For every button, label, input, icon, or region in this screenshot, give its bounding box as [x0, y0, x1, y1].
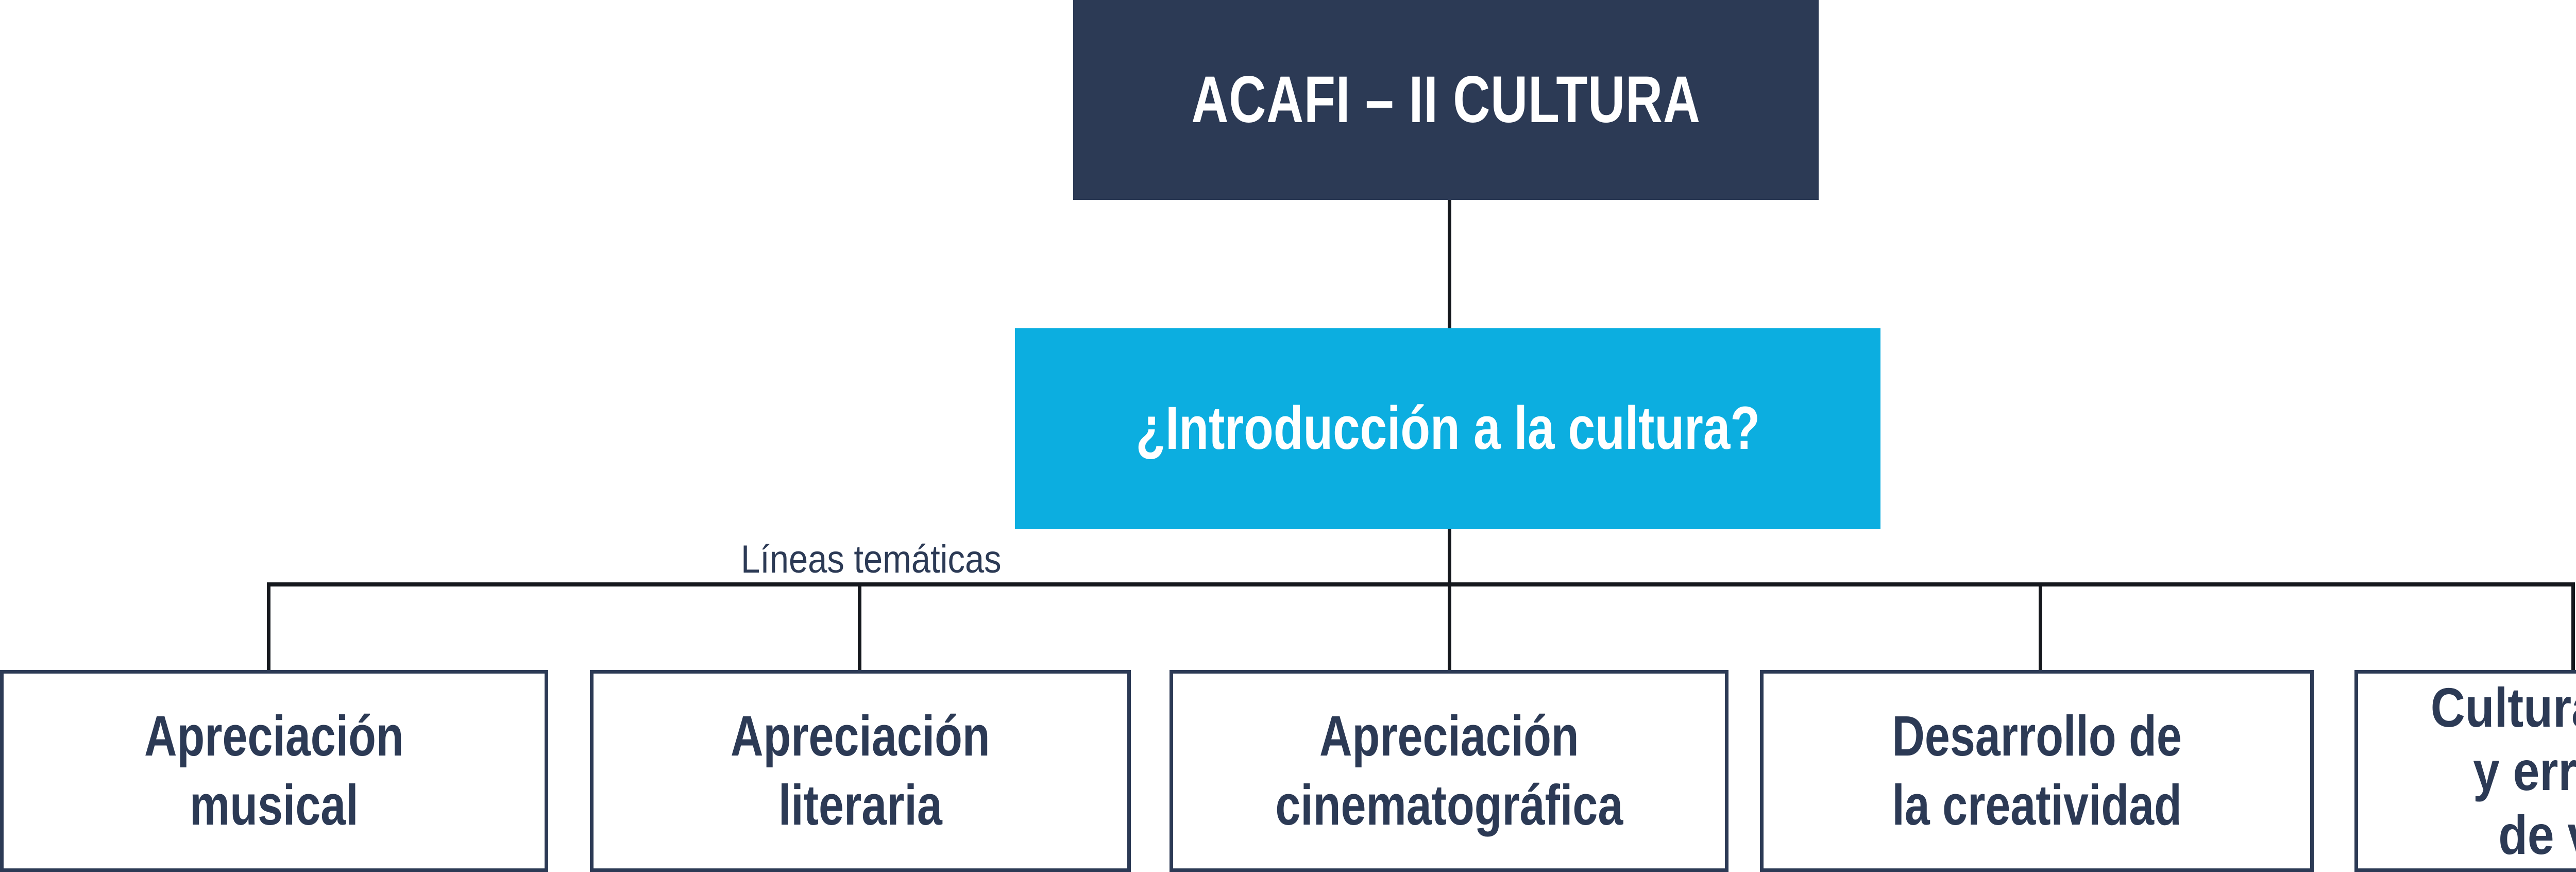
- node-question-label: ¿Introducción a la cultura?: [1136, 397, 1760, 461]
- node-leaf-desarrollo-creatividad[interactable]: Desarrollo de la creatividad: [1760, 670, 2314, 872]
- node-leaf-apreciacion-cinematografica[interactable]: Apreciación cinematográfica: [1170, 670, 1728, 872]
- node-leaf-apreciacion-literaria[interactable]: Apreciación literaria: [590, 670, 1131, 872]
- connector-drop-leaf-2: [858, 582, 861, 671]
- connector-drop-leaf-5: [2571, 582, 2575, 671]
- branch-label-lineas-tematicas: Líneas temáticas: [741, 540, 1002, 579]
- connector-horizontal-bus: [267, 582, 2575, 586]
- node-root-label: ACAFI – II CULTURA: [1191, 65, 1700, 135]
- node-leaf-apreciacion-musical[interactable]: Apreciación musical: [0, 670, 548, 872]
- node-question[interactable]: ¿Introducción a la cultura?: [1015, 328, 1880, 529]
- node-leaf-3-label: Apreciación cinematográfica: [1275, 702, 1623, 840]
- node-leaf-1-label: Apreciación musical: [144, 702, 404, 840]
- node-leaf-2-label: Apreciación literaria: [731, 702, 990, 840]
- connector-root-to-question: [1448, 200, 1451, 328]
- connector-question-to-bus: [1448, 529, 1451, 585]
- connector-drop-leaf-1: [267, 582, 270, 671]
- connector-drop-leaf-4: [2039, 582, 2042, 671]
- node-leaf-5-label: Cultura de género y erradicación de viol…: [2431, 676, 2576, 866]
- diagram-canvas: ACAFI – II CULTURA ¿Introducción a la cu…: [0, 0, 2576, 872]
- node-leaf-4-label: Desarrollo de la creatividad: [1892, 702, 2182, 840]
- connector-drop-leaf-3: [1448, 582, 1451, 671]
- node-leaf-cultura-genero-erradicacion-violencia[interactable]: Cultura de género y erradicación de viol…: [2354, 670, 2576, 872]
- node-root[interactable]: ACAFI – II CULTURA: [1073, 0, 1819, 200]
